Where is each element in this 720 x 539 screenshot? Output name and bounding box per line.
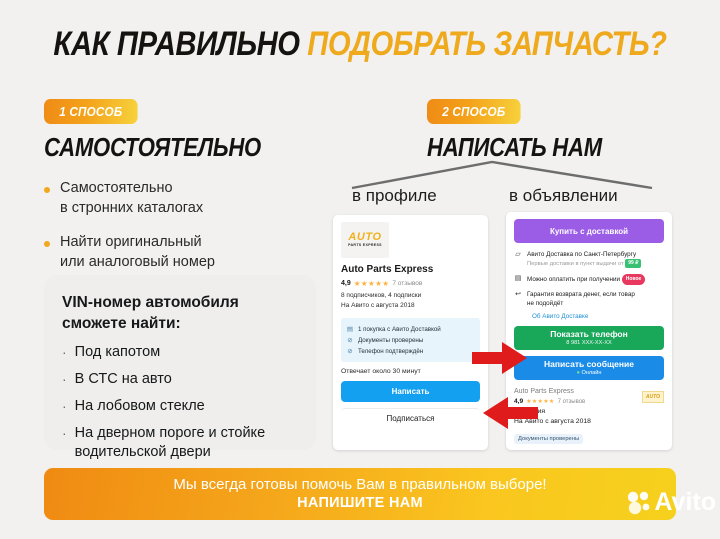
branch-label-profile: в профиле: [352, 186, 437, 206]
online-dot-icon: ●: [577, 370, 580, 376]
buy-with-delivery-button[interactable]: Купить с доставкой: [514, 219, 664, 243]
dash-bullet-icon: ·: [62, 343, 67, 362]
seller-reviews-link[interactable]: 7 отзывов: [558, 397, 586, 407]
shop-name: Auto Parts Express: [341, 264, 480, 275]
shop-logo: AUTO PARTS EXPRESS: [341, 222, 389, 258]
rating-value: 4,9: [341, 280, 351, 287]
trust-badge-row: ▤1 покупка с Авито Доставкой: [346, 325, 475, 333]
list-item: ·В СТС на авто: [62, 370, 298, 389]
arrow-to-message-button: [472, 341, 528, 375]
step-1-bullet-list: Самостоятельнов стронних каталогах Найти…: [44, 178, 324, 286]
status-badge: 99 ₽: [625, 259, 641, 268]
trust-badge-text: 1 покупка с Авито Доставкой: [358, 326, 441, 333]
list-item-text: На лобовом стекле: [75, 397, 205, 416]
truck-icon: ▱: [514, 250, 522, 259]
shop-logo-main: AUTO: [348, 232, 381, 243]
delivery-info-row: ▱Авито Доставка по Санкт-ПетербургуПервы…: [514, 250, 664, 269]
return-icon: ↩: [514, 290, 522, 299]
cta-banner: Мы всегда готовы помочь Вам в правильном…: [44, 468, 676, 520]
reviews-link[interactable]: 7 отзывов: [392, 280, 422, 287]
list-item: Самостоятельнов стронних каталогах: [44, 178, 324, 218]
trust-badge-text: Документы проверены: [358, 337, 423, 344]
trust-badges-box: ▤1 покупка с Авито Доставкой⊘Документы п…: [341, 318, 480, 362]
check-circle-icon: ⊘: [346, 347, 354, 355]
seller-logo: AUTO: [642, 391, 664, 403]
delivery-info-row: ▤Можно оплатить при получении Новое: [514, 274, 664, 285]
check-circle-icon: ⊘: [346, 336, 354, 344]
cta-line-2: НАПИШИТЕ НАМ: [297, 494, 423, 513]
delivery-info-subtext: Первые доставки в пункт выдачи от 99 ₽: [527, 259, 641, 269]
delivery-info-row: ↩Гарантия возврата денег, если товарне п…: [514, 290, 664, 308]
list-item: ·Под капотом: [62, 343, 298, 362]
avito-wordmark: Avito: [654, 490, 716, 515]
list-item: Найти оригинальныйили аналоговый номер: [44, 232, 324, 272]
avito-dots-icon: [626, 489, 652, 515]
write-button[interactable]: Написать: [341, 381, 480, 402]
shop-logo-sub: PARTS EXPRESS: [348, 243, 382, 248]
bullet-text: Самостоятельнов стронних каталогах: [60, 178, 203, 218]
dash-bullet-icon: ·: [62, 370, 67, 389]
seller-docs-badge: Документы проверены: [514, 434, 583, 444]
member-since: На Авито с августа 2018: [341, 301, 480, 311]
step-1-badge: 1 СПОСОБ: [44, 99, 138, 124]
phone-masked: 8 981 XXX-XX-XX: [566, 339, 611, 347]
avito-watermark: Avito: [626, 489, 716, 515]
page-title-dark: КАК ПРАВИЛЬНО: [53, 25, 307, 63]
vin-card-list: ·Под капотом·В СТС на авто·На лобовом ст…: [62, 343, 298, 462]
profile-card: AUTO PARTS EXPRESS Auto Parts Express 4,…: [333, 215, 488, 450]
branch-label-listing: в объявлении: [509, 186, 618, 206]
trust-badge-text: Телефон подтверждён: [358, 348, 423, 355]
send-message-label: Написать сообщение: [544, 359, 634, 369]
subscribe-button[interactable]: Подписаться: [341, 408, 480, 427]
list-item-text: Под капотом: [75, 343, 161, 362]
dash-bullet-icon: ·: [62, 397, 67, 416]
delivery-info-list: ▱Авито Доставка по Санкт-ПетербургуПервы…: [514, 250, 664, 308]
followers-count: 8 подписчиков, 4 подписки: [341, 291, 480, 301]
delivery-info-text: Авито Доставка по Санкт-Петербургу: [527, 250, 641, 259]
delivery-info-text: Можно оплатить при получении Новое: [527, 274, 645, 285]
bullet-dot-icon: [44, 187, 50, 193]
poster-root: КАК ПРАВИЛЬНО ПОДОБРАТЬ ЗАПЧАСТЬ? 1 СПОС…: [0, 0, 720, 539]
delivery-icon: ▤: [346, 325, 354, 333]
list-item: ·На лобовом стекле: [62, 397, 298, 416]
rating-row: 4,9 ★★★★★ 7 отзывов: [341, 279, 480, 288]
trust-badge-row: ⊘Телефон подтверждён: [346, 347, 475, 355]
list-item-text: В СТС на авто: [75, 370, 172, 389]
send-message-button[interactable]: Написать сообщение ● Онлайн: [514, 356, 664, 380]
dash-bullet-icon: ·: [62, 424, 67, 443]
status-badge: Новое: [622, 274, 646, 285]
delivery-info-text: Гарантия возврата денег, если товарне по…: [527, 290, 635, 308]
bullet-text: Найти оригинальныйили аналоговый номер: [60, 232, 215, 272]
page-title: КАК ПРАВИЛЬНО ПОДОБРАТЬ ЗАПЧАСТЬ?: [50, 24, 669, 64]
answer-time: Отвечает около 30 минут: [341, 368, 480, 375]
online-status: ● Онлайн: [577, 369, 602, 377]
step-2-badge: 2 СПОСОБ: [427, 99, 521, 124]
page-title-gold: ПОДОБРАТЬ ЗАПЧАСТЬ?: [307, 25, 666, 63]
delivery-info-text-wrap: Гарантия возврата денег, если товарне по…: [527, 290, 635, 308]
bullet-dot-icon: [44, 241, 50, 247]
show-phone-label: Показать телефон: [550, 329, 628, 339]
step-1-title: САМОСТОЯТЕЛЬНО: [44, 132, 261, 163]
delivery-info-text-wrap: Можно оплатить при получении Новое: [527, 274, 645, 285]
arrow-to-write-button: [483, 396, 539, 430]
vin-info-card: VIN-номер автомобилясможете найти: ·Под …: [44, 275, 316, 450]
trust-badge-row: ⊘Документы проверены: [346, 336, 475, 344]
delivery-info-text-wrap: Авито Доставка по Санкт-ПетербургуПервые…: [527, 250, 641, 269]
list-item: ·На дверном пороге и стойкеводительской …: [62, 424, 298, 462]
about-delivery-link[interactable]: Об Авито Доставке: [532, 313, 664, 320]
vin-card-title: VIN-номер автомобилясможете найти:: [62, 292, 298, 334]
star-icon: ★★★★★: [354, 279, 390, 288]
show-phone-button[interactable]: Показать телефон 8 981 XXX-XX-XX: [514, 326, 664, 350]
cta-line-1: Мы всегда готовы помочь Вам в правильном…: [173, 475, 546, 494]
list-item-text: На дверном пороге и стойкеводительской д…: [75, 424, 265, 462]
wallet-icon: ▤: [514, 274, 522, 283]
